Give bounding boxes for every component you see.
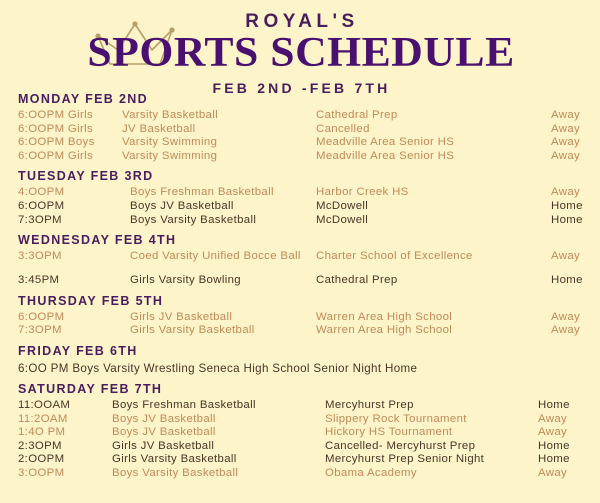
row-time: 11:2OAM	[18, 413, 68, 427]
schedule-row: 7:3OPMGirls Varsity BasketballWarren Are…	[0, 324, 600, 338]
row-sport: Girls JV Basketball	[130, 311, 232, 325]
day-block: TUESDAY FEB 3RD4:OOPMBoys Freshman Baske…	[0, 169, 600, 233]
row-sport: Varsity Basketball	[122, 109, 218, 123]
row-sport: Boys JV Basketball	[130, 200, 234, 214]
row-sport: Boys JV Basketball	[112, 426, 216, 440]
row-location: Home	[538, 399, 570, 413]
row-sport: Boys Freshman Basketball	[130, 186, 274, 200]
row-opponent: Hickory HS Tournament	[325, 426, 452, 440]
day-header: SATURDAY FEB 7TH	[18, 382, 600, 397]
row-opponent: McDowell	[316, 200, 368, 214]
schedule-row: 6:OOPMGirls JV BasketballWarren Area Hig…	[0, 311, 600, 325]
schedule-row-singleline: 6:OO PM Boys Varsity Wrestling Seneca Hi…	[18, 361, 600, 376]
row-sport: Girls Varsity Basketball	[130, 324, 255, 338]
row-sport: Girls JV Basketball	[112, 440, 214, 454]
schedule-row: 3:45PMGirls Varsity BowlingCathedral Pre…	[0, 274, 600, 288]
row-opponent: Meadville Area Senior HS	[316, 150, 454, 164]
schedule-row: 2:3OPMGirls JV BasketballCancelled- Merc…	[0, 440, 600, 454]
row-opponent: Cathedral Prep	[316, 109, 398, 123]
row-sport: Coed Varsity Unified Bocce Ball	[130, 250, 315, 262]
schedule-row: 3:OOPMBoys Varsity BasketballObama Acade…	[0, 467, 600, 481]
row-time: 2:3OPM	[18, 440, 62, 454]
day-block: WEDNESDAY FEB 4TH3:3OPMCoed Varsity Unif…	[0, 233, 600, 294]
row-time: 3:OOPM	[18, 467, 64, 481]
row-location: Away	[551, 109, 580, 123]
row-location: Home	[551, 274, 583, 288]
schedule-row: 7:3OPMBoys Varsity BasketballMcDowellHom…	[0, 214, 600, 228]
row-sport: JV Basketball	[122, 123, 196, 137]
schedule-row: 1:4O PMBoys JV BasketballHickory HS Tour…	[0, 426, 600, 440]
row-sport: Varsity Swimming	[122, 136, 217, 150]
row-opponent: Charter School of Excellence	[316, 250, 473, 264]
row-sport: Boys Freshman Basketball	[112, 399, 256, 413]
row-location: Away	[551, 123, 580, 137]
row-opponent: Obama Academy	[325, 467, 417, 481]
row-opponent: Meadville Area Senior HS	[316, 136, 454, 150]
day-block: MONDAY FEB 2ND6:OOPM GirlsVarsity Basket…	[0, 92, 600, 169]
day-block: FRIDAY FEB 6TH6:OO PM Boys Varsity Wrest…	[0, 344, 600, 382]
row-opponent: Cancelled	[316, 123, 370, 137]
day-rows: 6:OOPMGirls JV BasketballWarren Area Hig…	[0, 311, 600, 338]
row-time: 1:4O PM	[18, 426, 65, 440]
row-time: 6:OOPM	[18, 311, 64, 325]
sports-schedule-poster: ROYAL'S SPORTS SCHEDULE FEB 2ND -FEB 7TH…	[0, 0, 600, 503]
schedule-row: 11:2OAMBoys JV BasketballSlippery Rock T…	[0, 413, 600, 427]
row-time: 6:OOPM Boys	[18, 136, 95, 150]
row-sport: Boys JV Basketball	[112, 413, 216, 427]
row-location: Away	[551, 136, 580, 150]
day-rows: 3:3OPMCoed Varsity Unified Bocce BallCha…	[0, 250, 600, 288]
row-opponent: Harbor Creek HS	[316, 186, 409, 200]
schedule-row: 6:OOPM GirlsJV BasketballCancelledAway	[0, 123, 600, 137]
row-time: 6:OOPM Girls	[18, 123, 93, 137]
row-location: Away	[551, 150, 580, 164]
day-header: THURSDAY FEB 5TH	[18, 294, 600, 309]
row-opponent: McDowell	[316, 214, 368, 228]
row-time: 6:OOPM Girls	[18, 109, 93, 123]
row-opponent: Slippery Rock Tournament	[325, 413, 467, 427]
day-block: THURSDAY FEB 5TH6:OOPMGirls JV Basketbal…	[0, 294, 600, 344]
row-opponent: Cathedral Prep	[316, 274, 398, 288]
row-opponent: Mercyhurst Prep Senior Night	[325, 453, 484, 467]
row-location: Home	[551, 214, 583, 228]
page-title: SPORTS SCHEDULE	[0, 32, 600, 74]
row-opponent: Warren Area High School	[316, 324, 452, 338]
day-block: SATURDAY FEB 7TH11:OOAMBoys Freshman Bas…	[0, 382, 600, 487]
schedule-row: 6:OOPM GirlsVarsity BasketballCathedral …	[0, 109, 600, 123]
row-location: Away	[538, 426, 567, 440]
day-header: FRIDAY FEB 6TH	[18, 344, 600, 359]
schedule-row: 6:OOPMBoys JV BasketballMcDowellHome	[0, 200, 600, 214]
poster-header: ROYAL'S SPORTS SCHEDULE FEB 2ND -FEB 7TH	[0, 0, 600, 92]
schedule-row: 2:OOPMGirls Varsity BasketballMercyhurst…	[0, 453, 600, 467]
row-location: Away	[538, 413, 567, 427]
row-opponent: Cancelled- Mercyhurst Prep	[325, 440, 475, 454]
brand-title: ROYAL'S	[0, 12, 600, 31]
row-time: 3:45PM	[18, 274, 59, 288]
row-time: 7:3OPM	[18, 324, 62, 338]
day-header: MONDAY FEB 2ND	[18, 92, 600, 107]
row-location: Away	[551, 324, 580, 338]
section-spacer	[0, 481, 600, 487]
schedule-row: 4:OOPMBoys Freshman BasketballHarbor Cre…	[0, 186, 600, 200]
row-time: 2:OOPM	[18, 453, 64, 467]
row-time: 6:OOPM	[18, 200, 64, 214]
schedule-row: 3:3OPMCoed Varsity Unified Bocce BallCha…	[0, 250, 600, 274]
row-location: Away	[538, 467, 567, 481]
row-time: 3:3OPM	[18, 250, 62, 264]
day-header: TUESDAY FEB 3RD	[18, 169, 600, 184]
row-location: Home	[551, 200, 583, 214]
row-sport: Girls Varsity Bowling	[130, 274, 241, 288]
row-time: 4:OOPM	[18, 186, 64, 200]
schedule-row: 6:OOPM BoysVarsity SwimmingMeadville Are…	[0, 136, 600, 150]
row-time: 7:3OPM	[18, 214, 62, 228]
row-location: Home	[538, 453, 570, 467]
schedule-list: MONDAY FEB 2ND6:OOPM GirlsVarsity Basket…	[0, 92, 600, 487]
row-location: Away	[551, 250, 580, 264]
row-time: 6:OOPM Girls	[18, 150, 93, 164]
row-sport: Varsity Swimming	[122, 150, 217, 164]
row-opponent: Mercyhurst Prep	[325, 399, 414, 413]
row-sport: Boys Varsity Basketball	[112, 467, 238, 481]
row-location: Away	[551, 186, 580, 200]
row-opponent: Warren Area High School	[316, 311, 452, 325]
day-rows: 4:OOPMBoys Freshman BasketballHarbor Cre…	[0, 186, 600, 227]
row-location: Home	[538, 440, 570, 454]
row-location: Away	[551, 311, 580, 325]
day-header: WEDNESDAY FEB 4TH	[18, 233, 600, 248]
day-rows: 11:OOAMBoys Freshman BasketballMercyhurs…	[0, 399, 600, 481]
day-rows: 6:OOPM GirlsVarsity BasketballCathedral …	[0, 109, 600, 163]
row-sport: Boys Varsity Basketball	[130, 214, 256, 228]
row-time: 11:OOAM	[18, 399, 70, 413]
schedule-row: 11:OOAMBoys Freshman BasketballMercyhurs…	[0, 399, 600, 413]
schedule-row: 6:OOPM GirlsVarsity SwimmingMeadville Ar…	[0, 150, 600, 164]
row-sport: Girls Varsity Basketball	[112, 453, 237, 467]
